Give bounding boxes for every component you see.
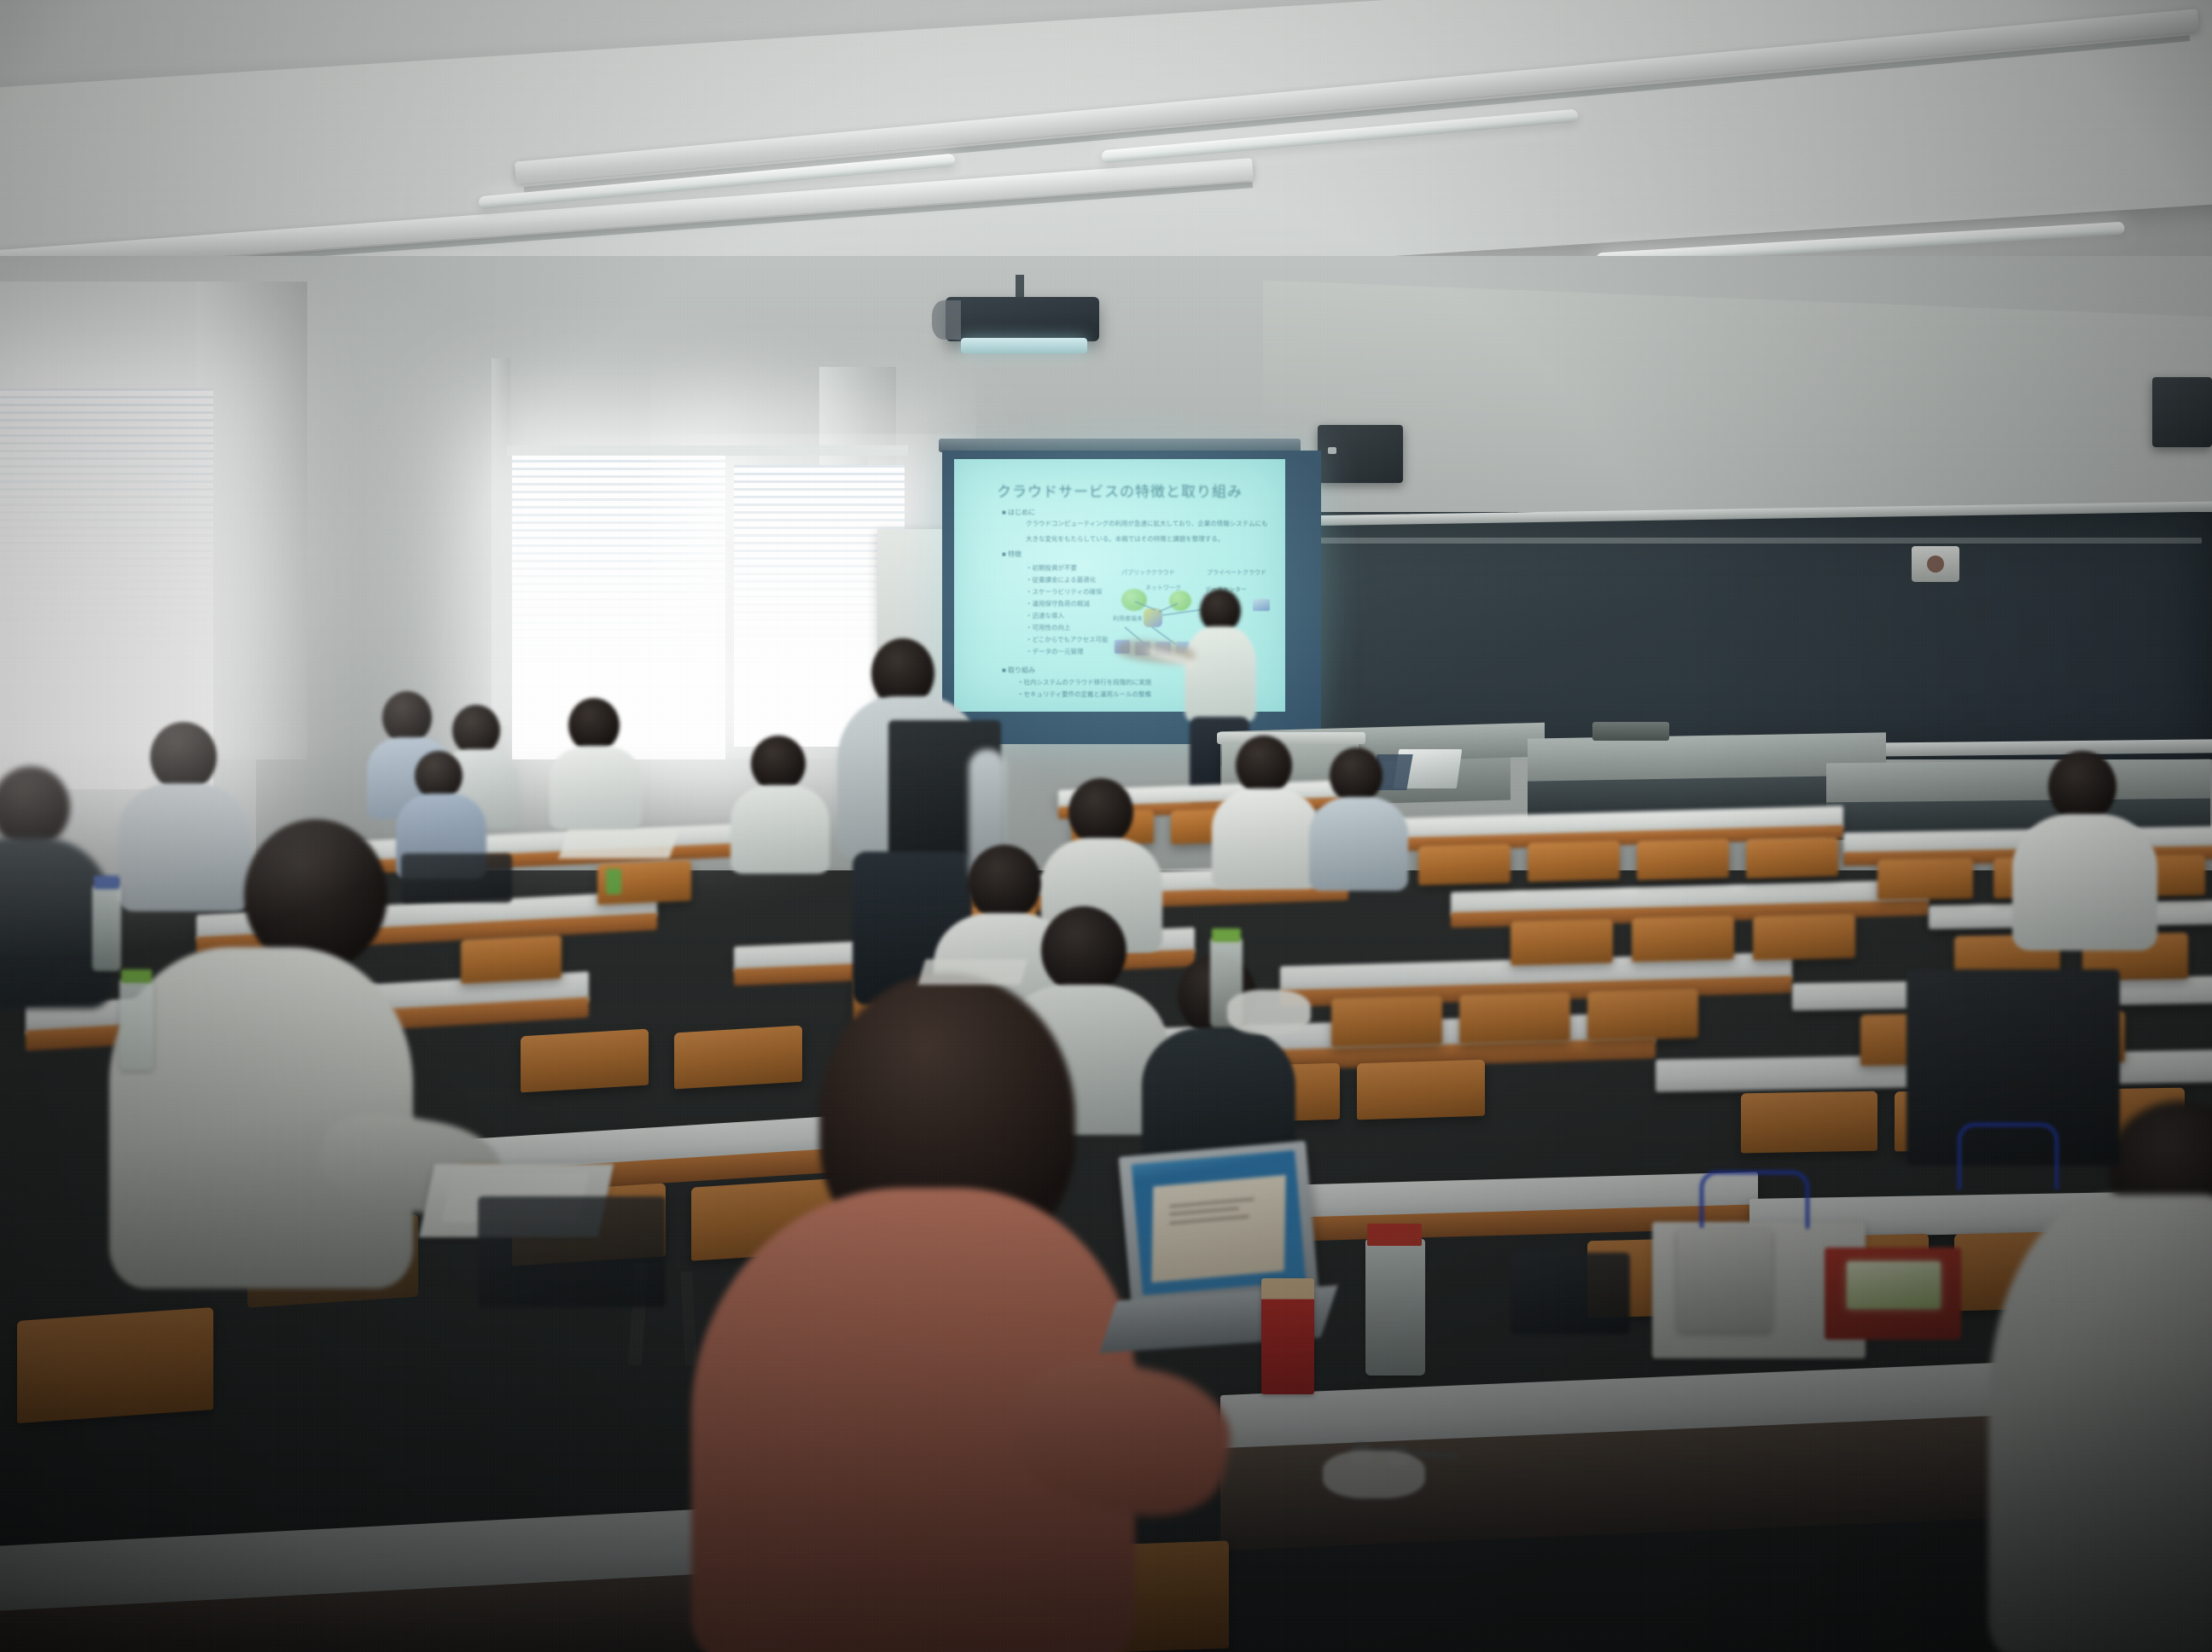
- chair[interactable]: [1459, 992, 1570, 1044]
- attendee-shirt: [1309, 797, 1408, 891]
- cola-can[interactable]: [1261, 1278, 1314, 1394]
- laptop-document-window[interactable]: [1151, 1175, 1285, 1283]
- slide-body-line: ・初期投資が不要: [1026, 563, 1077, 573]
- slide-body-line: ・可用性の向上: [1026, 623, 1071, 632]
- backpack-strap: [1958, 1123, 2058, 1190]
- slide-body-line: ・スケーラビリティの確保: [1026, 587, 1103, 596]
- projector-bracket: [932, 300, 961, 340]
- attendee-head: [2048, 751, 2116, 823]
- blackboard: [1297, 512, 2212, 759]
- window-light-bloom: [512, 452, 725, 759]
- water-bottle[interactable]: [92, 886, 121, 971]
- slide-body-line: ・従量課金による最適化: [1026, 575, 1096, 585]
- attendee-shirt: [731, 785, 829, 874]
- chair[interactable]: [1418, 843, 1511, 885]
- diagram-label: パブリッククラウド: [1121, 568, 1175, 577]
- attendee-shirt: [1212, 788, 1319, 889]
- bag-on-desk[interactable]: [478, 1196, 666, 1307]
- chair[interactable]: [521, 1029, 649, 1093]
- wall-speaker-right: [2152, 377, 2212, 447]
- attendee-head: [968, 845, 1041, 922]
- attendee-shirt: [2012, 814, 2157, 951]
- paper-sheet: [558, 829, 678, 858]
- slide-body-line: ・セキュリティ要件の定義と運用ルールの整備: [1017, 689, 1151, 699]
- attendee-shirt: [550, 746, 642, 829]
- chair[interactable]: [1741, 1091, 1877, 1154]
- chair[interactable]: [1637, 838, 1729, 880]
- speaker-badge: [1328, 447, 1336, 454]
- chair[interactable]: [1357, 1060, 1485, 1120]
- slide-body-line: クラウドコンピューティングの利用が急速に拡大しており、企業の情報システムにも: [1026, 519, 1282, 528]
- chair[interactable]: [1877, 858, 1973, 900]
- ceiling-projector: [946, 297, 1099, 341]
- chair[interactable]: [1528, 840, 1620, 881]
- slide-section-heading: ■ はじめに: [1002, 508, 1035, 517]
- diagram-label: プライベートクラウド: [1207, 568, 1266, 577]
- presenter-shirt: [1185, 626, 1256, 722]
- lecture-hall-photo: クラウドサービスの特徴と取り組み ■ はじめに クラウドコンピューティングの利用…: [0, 0, 2212, 1652]
- attendee-head: [452, 705, 500, 756]
- attendee-head: [568, 698, 620, 753]
- wall-speaker-left: [1318, 425, 1403, 483]
- bag-on-desk[interactable]: [1511, 1253, 1630, 1335]
- slide-body-line: ・社内システムのクラウド移行を段階的に実施: [1017, 678, 1151, 687]
- lectern-surface: [1217, 732, 1365, 744]
- bag-on-desk[interactable]: [401, 853, 512, 903]
- slide-body-line: ・迅速な導入: [1026, 611, 1064, 620]
- chair[interactable]: [1746, 836, 1838, 878]
- slide-section-heading: ■ 特徴: [1002, 550, 1022, 559]
- slide-body-line: ・どこからでもアクセス可能: [1026, 635, 1109, 644]
- attendee-head: [1236, 736, 1292, 795]
- attendee-head: [1068, 778, 1133, 846]
- blackboard-upper-trim: [1314, 538, 2202, 544]
- paper-sheet: [918, 959, 1028, 985]
- slide-body-line: 大きな変化をもたらしている。本稿ではその特徴と課題を整理する。: [1026, 534, 1282, 544]
- chair[interactable]: [1753, 913, 1855, 960]
- tote-bag-inner-pouch: [1678, 1229, 1772, 1331]
- green-marker[interactable]: [606, 869, 621, 894]
- tote-bag-handle: [1700, 1171, 1809, 1229]
- tissue-paper: [1227, 990, 1311, 1034]
- attendee-head: [1330, 747, 1382, 804]
- wall-sign-emblem: [1927, 556, 1944, 573]
- slide-body-line: ・運用保守負荷の軽減: [1026, 599, 1090, 608]
- slide-title: クラウドサービスの特徴と取り組み: [954, 480, 1285, 501]
- attendee-head: [751, 736, 806, 792]
- bottle-cap: [1367, 1224, 1422, 1246]
- tissue-paper: [1323, 1451, 1425, 1498]
- water-bottle[interactable]: [1365, 1239, 1425, 1376]
- bottle-cap: [94, 875, 119, 889]
- chair[interactable]: [1632, 915, 1734, 962]
- projector-mount: [1016, 275, 1024, 297]
- student-shirt: [1988, 1195, 2212, 1652]
- chair[interactable]: [1331, 995, 1442, 1048]
- bottle-cap: [1212, 928, 1241, 942]
- eyeglasses-temple: [1412, 1451, 1458, 1458]
- foreground-student-right: [1988, 1135, 2212, 1647]
- diagram-cloud-node: [1121, 589, 1147, 611]
- mobile-phone[interactable]: [1847, 1261, 1941, 1309]
- chair[interactable]: [1587, 988, 1698, 1041]
- equipment-box: [1592, 722, 1669, 741]
- window-mullion: [492, 358, 510, 725]
- water-bottle[interactable]: [119, 980, 154, 1070]
- attendee-head: [382, 691, 432, 744]
- attendee-head: [150, 722, 217, 792]
- chair[interactable]: [1511, 918, 1613, 965]
- diagram-label: 利用者端末: [1113, 614, 1143, 623]
- wall-sign: [1912, 546, 1959, 582]
- bottle-cap: [121, 969, 152, 983]
- window-center-a: [512, 452, 725, 759]
- projector-lens: [961, 338, 1087, 353]
- window-frame-top: [507, 445, 908, 456]
